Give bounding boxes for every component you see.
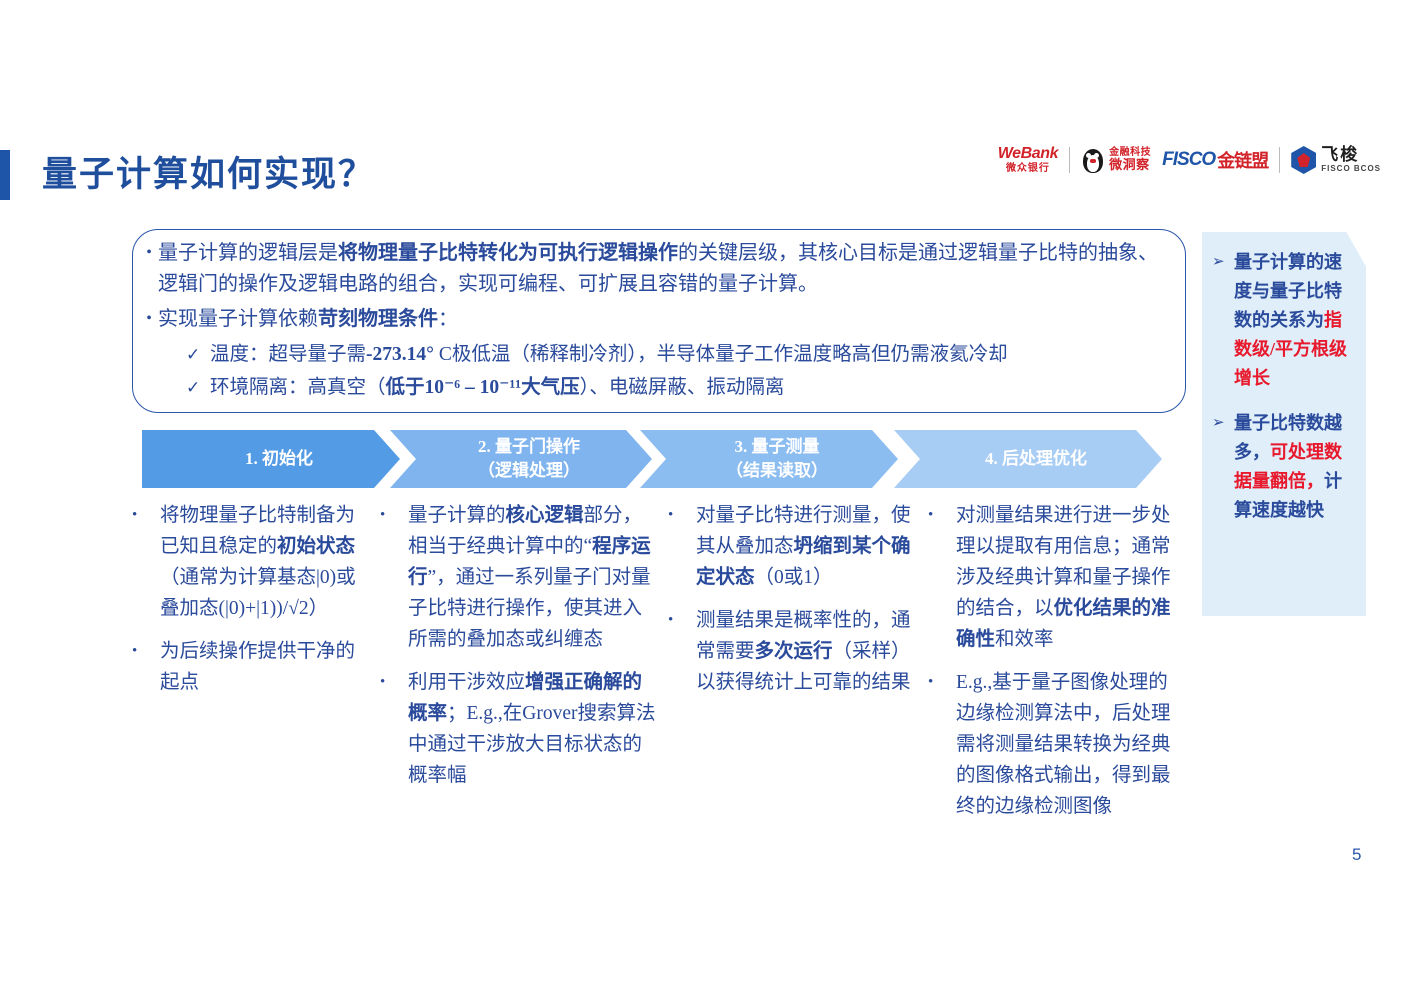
bullet-dot-icon: • [380, 667, 408, 698]
column-bullet: •量子计算的核心逻辑部分，相当于经典计算中的“程序运行”，通过一系列量子门对量子… [380, 500, 656, 655]
intro-sub-bullet: ✓温度：超导量子需-273.14° C极低温（稀释制冷剂），半导体量子工作温度略… [186, 339, 1180, 370]
bcos-logo: 飞梭 FISCO BCOS [1291, 146, 1381, 174]
bullet-dot-icon: • [380, 500, 408, 531]
bcos-logo-cn: 飞梭 [1321, 146, 1381, 165]
side-note-item-text: 量子比特数越多，可处理数据量翻倍，计算速度越快 [1234, 409, 1358, 525]
intro-bullet-text: 实现量子计算依赖苛刻物理条件： [158, 304, 1180, 335]
process-step-1[interactable]: 1. 初始化 [142, 430, 400, 488]
webank-logo-cn: 微众银行 [1006, 164, 1050, 174]
intro-bullet-text: 量子计算的逻辑层是将物理量子比特转化为可执行逻辑操作的关键层级，其核心目标是通过… [158, 238, 1180, 300]
process-chevron-bar: 1. 初始化2. 量子门操作（逻辑处理）3. 量子测量（结果读取）4. 后处理优… [142, 430, 1188, 488]
column-bullet: •将物理量子比特制备为已知且稳定的初始状态（通常为计算基态|0)或叠加态(|0)… [132, 500, 368, 624]
intro-sub-bullet-text: 温度：超导量子需-273.14° C极低温（稀释制冷剂），半导体量子工作温度略高… [210, 339, 1008, 370]
bullet-dot-icon: • [668, 605, 696, 636]
webank-logo-en: WeBank [998, 146, 1058, 162]
column-bullet: •利用干涉效应增强正确解的概率；E.g.,在Grover搜索算法中通过干涉放大目… [380, 667, 656, 791]
bullet-dot-icon: • [140, 304, 158, 334]
process-step-label: 4. 后处理优化 [963, 447, 1093, 471]
penguin-icon [1081, 146, 1105, 174]
bullet-dot-icon: • [928, 667, 956, 698]
column-initialization: •将物理量子比特制备为已知且稳定的初始状态（通常为计算基态|0)或叠加态(|0)… [132, 500, 380, 834]
column-measurement: •对量子比特进行测量，使其从叠加态坍缩到某个确定状态（0或1）•测量结果是概率性… [668, 500, 928, 834]
bullet-dot-icon: • [132, 636, 160, 667]
fisco-logo-cn: 金链盟 [1217, 147, 1268, 173]
logo-divider [1069, 147, 1070, 173]
column-bullet: •测量结果是概率性的，通常需要多次运行（采样）以获得统计上可靠的结果 [668, 605, 916, 698]
column-bullet-text: 将物理量子比特制备为已知且稳定的初始状态（通常为计算基态|0)或叠加态(|0)+… [160, 500, 368, 624]
side-note-item: ➢量子比特数越多，可处理数据量翻倍，计算速度越快 [1212, 409, 1358, 525]
hexagon-icon [1291, 146, 1316, 174]
column-bullet-text: 对量子比特进行测量，使其从叠加态坍缩到某个确定状态（0或1） [696, 500, 916, 593]
detail-columns: •将物理量子比特制备为已知且稳定的初始状态（通常为计算基态|0)或叠加态(|0)… [132, 500, 1192, 834]
column-bullet-text: E.g.,基于量子图像处理的边缘检测算法中，后处理需将测量结果转换为经典的图像格… [956, 667, 1180, 822]
title-accent-bar [0, 150, 10, 200]
bullet-dot-icon: • [140, 238, 158, 268]
weidongcha-logo: 金融科技 微洞察 [1081, 146, 1151, 174]
weidongcha-logo-line2: 微洞察 [1109, 158, 1151, 172]
page-number: 5 [1352, 845, 1361, 865]
intro-bullet: •实现量子计算依赖苛刻物理条件： [140, 304, 1180, 335]
intro-sub-list: ✓温度：超导量子需-273.14° C极低温（稀释制冷剂），半导体量子工作温度略… [186, 339, 1180, 403]
check-icon: ✓ [186, 339, 210, 370]
bullet-dot-icon: • [668, 500, 696, 531]
bullet-dot-icon: • [928, 500, 956, 531]
process-step-4[interactable]: 4. 后处理优化 [894, 430, 1162, 488]
column-bullet: •对量子比特进行测量，使其从叠加态坍缩到某个确定状态（0或1） [668, 500, 916, 593]
column-bullet: •为后续操作提供干净的起点 [132, 636, 368, 698]
process-step-3[interactable]: 3. 量子测量（结果读取） [640, 430, 898, 488]
side-note-item-text: 量子计算的速度与量子比特数的关系为指数级/平方根级增长 [1234, 248, 1358, 393]
column-bullet-text: 利用干涉效应增强正确解的概率；E.g.,在Grover搜索算法中通过干涉放大目标… [408, 667, 656, 791]
fisco-logo-en: FISCO [1162, 149, 1215, 171]
column-bullet-text: 对测量结果进行进一步处理以提取有用信息；通常涉及经典计算和量子操作的结合，以优化… [956, 500, 1180, 655]
intro-sub-bullet-text: 环境隔离：高真空（低于10⁻⁶ – 10⁻¹¹大气压）、电磁屏蔽、振动隔离 [210, 372, 784, 403]
column-bullet-text: 为后续操作提供干净的起点 [160, 636, 368, 698]
check-icon: ✓ [186, 372, 210, 403]
bullet-dot-icon: • [132, 500, 160, 531]
logo-bar: WeBank 微众银行 金融科技 微洞察 FISCO 金链盟 飞梭 FISCO … [998, 138, 1381, 182]
arrow-bullet-icon: ➢ [1212, 409, 1234, 438]
column-bullet-text: 测量结果是概率性的，通常需要多次运行（采样）以获得统计上可靠的结果 [696, 605, 916, 698]
arrow-bullet-icon: ➢ [1212, 248, 1234, 277]
webank-logo: WeBank 微众银行 [998, 146, 1058, 174]
logo-divider-2 [1279, 147, 1280, 173]
intro-bullet-list: •量子计算的逻辑层是将物理量子比特转化为可执行逻辑操作的关键层级，其核心目标是通… [140, 238, 1180, 405]
process-step-label: 3. 量子测量（结果读取） [704, 435, 834, 483]
side-note-list: ➢量子计算的速度与量子比特数的关系为指数级/平方根级增长➢量子比特数越多，可处理… [1202, 240, 1366, 549]
process-step-label: 2. 量子门操作（逻辑处理） [456, 435, 586, 483]
page-title: 量子计算如何实现？ [42, 146, 375, 197]
column-bullet: •对测量结果进行进一步处理以提取有用信息；通常涉及经典计算和量子操作的结合，以优… [928, 500, 1180, 655]
column-gate-operation: •量子计算的核心逻辑部分，相当于经典计算中的“程序运行”，通过一系列量子门对量子… [380, 500, 668, 834]
column-post-processing: •对测量结果进行进一步处理以提取有用信息；通常涉及经典计算和量子操作的结合，以优… [928, 500, 1192, 834]
fisco-logo: FISCO 金链盟 [1162, 147, 1268, 173]
bcos-logo-en: FISCO BCOS [1321, 165, 1381, 174]
intro-sub-bullet: ✓环境隔离：高真空（低于10⁻⁶ – 10⁻¹¹大气压）、电磁屏蔽、振动隔离 [186, 372, 1180, 403]
process-step-label: 1. 初始化 [223, 447, 319, 471]
process-step-2[interactable]: 2. 量子门操作（逻辑处理） [390, 430, 652, 488]
intro-bullet: •量子计算的逻辑层是将物理量子比特转化为可执行逻辑操作的关键层级，其核心目标是通… [140, 238, 1180, 300]
column-bullet-text: 量子计算的核心逻辑部分，相当于经典计算中的“程序运行”，通过一系列量子门对量子比… [408, 500, 656, 655]
side-note-item: ➢量子计算的速度与量子比特数的关系为指数级/平方根级增长 [1212, 248, 1358, 393]
column-bullet: •E.g.,基于量子图像处理的边缘检测算法中，后处理需将测量结果转换为经典的图像… [928, 667, 1180, 822]
